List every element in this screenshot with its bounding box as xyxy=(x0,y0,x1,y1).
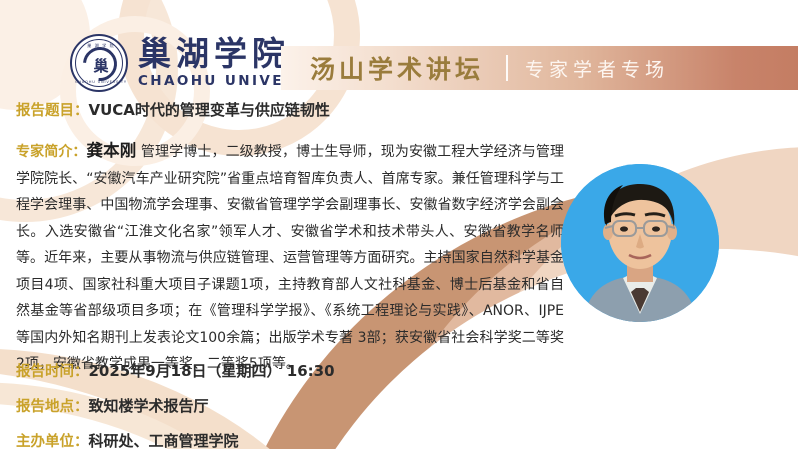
report-title-row: 报告题目：VUCA时代的管理变革与供应链韧性 xyxy=(16,99,330,120)
report-time-label: 报告时间： xyxy=(16,364,89,380)
report-title-value: VUCA时代的管理变革与供应链韧性 xyxy=(89,101,330,119)
expert-intro-label: 专家简介： xyxy=(16,144,87,160)
seminar-poster: 巢 湖 学 院 巢 CHAOHU UNIVERSITY 巢湖学院 CHAOHU … xyxy=(0,0,798,449)
report-place-value: 致知楼学术报告厅 xyxy=(89,397,209,415)
report-organizer-label: 主办单位： xyxy=(16,434,89,449)
poster-content: 报告题目：VUCA时代的管理变革与供应链韧性 专家简介：龚本刚 管理学博士，二级… xyxy=(0,0,798,449)
report-organizer-row: 主办单位：科研处、工商管理学院 xyxy=(16,430,239,449)
expert-portrait-photo xyxy=(561,164,719,322)
portrait-illustration xyxy=(561,164,719,322)
report-title-label: 报告题目： xyxy=(16,103,89,119)
expert-name: 龚本刚 xyxy=(87,141,137,160)
report-place-row: 报告地点：致知楼学术报告厅 xyxy=(16,395,209,416)
expert-bio-block: 专家简介：龚本刚 管理学博士，二级教授，博士生导师，现为安徽工程大学经济与管理学… xyxy=(16,138,564,378)
report-organizer-value: 科研处、工商管理学院 xyxy=(89,432,239,449)
expert-bio-text: 管理学博士，二级教授，博士生导师，现为安徽工程大学经济与管理学院院长、“安徽汽车… xyxy=(16,144,564,372)
report-place-label: 报告地点： xyxy=(16,399,89,415)
report-time-row: 报告时间：2025年9月18日（星期四） 16:30 xyxy=(16,360,335,381)
report-time-value: 2025年9月18日（星期四） 16:30 xyxy=(89,362,335,380)
